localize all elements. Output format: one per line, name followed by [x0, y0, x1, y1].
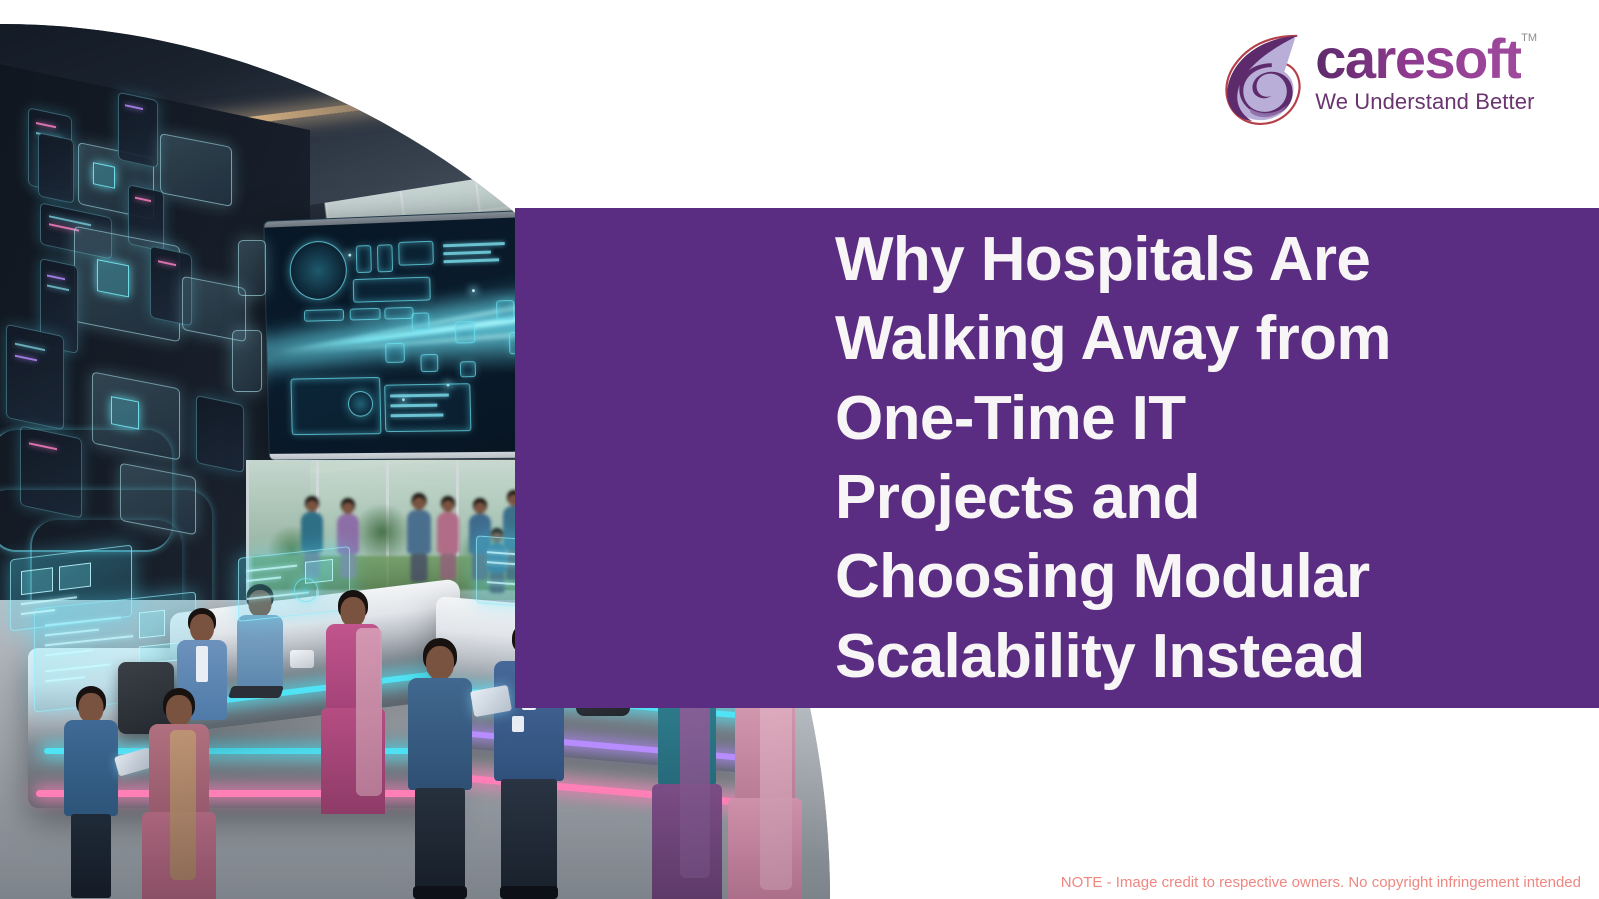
- hud-readout-2: [377, 244, 393, 272]
- node-box-4: [455, 321, 475, 343]
- data-spark-2: [472, 289, 475, 292]
- visitor-sari-center: [320, 592, 386, 814]
- side-monitor-left-lower: [232, 330, 262, 392]
- banner-canvas: Why Hospitals Are Walking Away from One-…: [0, 0, 1599, 899]
- caresoft-logo[interactable]: caresoft TM We Understand Better: [1211, 26, 1537, 126]
- logo-tagline: We Understand Better: [1315, 89, 1537, 115]
- title-line-2: Walking Away from: [835, 299, 1555, 378]
- background-person-3: [406, 495, 432, 581]
- node-box-3: [420, 354, 438, 372]
- wall-panel-12: [6, 324, 64, 430]
- scan-circle-widget: [289, 240, 347, 301]
- nurse-standing-foreground: [404, 640, 476, 899]
- hud-readout-3: [398, 241, 434, 266]
- logo-text-block: caresoft TM We Understand Better: [1315, 26, 1537, 115]
- trademark-symbol: TM: [1521, 32, 1537, 44]
- hud-text-line-1: [443, 242, 505, 247]
- hud-table-widget: [353, 277, 431, 303]
- sari-drape-right-2: [760, 700, 792, 890]
- visitor-sari-front-left: [140, 690, 218, 899]
- title-line-6: Scalability Instead: [835, 617, 1555, 696]
- holo-screen-left-upper: [10, 545, 132, 632]
- image-credit-note: NOTE - Image credit to respective owners…: [1061, 874, 1581, 891]
- node-box-2: [385, 343, 405, 363]
- hud-text-line-3: [444, 258, 500, 263]
- wall-panel-14: [196, 395, 244, 473]
- sari-drape-right-1: [680, 690, 710, 878]
- title-line-1: Why Hospitals Are: [835, 220, 1555, 299]
- title-band: Why Hospitals Are Walking Away from One-…: [515, 208, 1599, 708]
- desk-terminal-left: [290, 650, 314, 668]
- hud-text-line-2: [443, 251, 491, 256]
- desk-keyboard-left: [228, 686, 284, 698]
- background-person-4: [436, 498, 460, 578]
- doctor-shoes: [500, 886, 558, 899]
- title-line-3: One-Time IT: [835, 379, 1555, 458]
- hud-tag-2: [350, 308, 381, 321]
- node-box-5: [460, 361, 476, 377]
- wall-panel-6: [38, 132, 74, 204]
- title-line-4: Projects and: [835, 458, 1555, 537]
- title-line-5: Choosing Modular: [835, 537, 1555, 616]
- sari-drape-center: [356, 628, 382, 796]
- stats-panel-mid: [384, 383, 471, 432]
- holo-orb-center: [294, 578, 318, 602]
- node-box-6: [496, 300, 514, 321]
- doctor-id-badge: [512, 716, 524, 732]
- wall-panel-3: [118, 92, 158, 169]
- logo-wordmark: caresoft: [1315, 32, 1521, 85]
- nurse-shoes: [413, 886, 467, 899]
- hud-readout-1: [356, 245, 372, 273]
- side-monitor-left-upper: [238, 240, 266, 296]
- nurse-standing-front-left: [62, 688, 120, 898]
- hud-tag-3: [384, 307, 413, 320]
- data-spark-1: [348, 254, 351, 257]
- sari-drape-left: [170, 730, 196, 880]
- logo-wordmark-row: caresoft TM: [1315, 32, 1537, 85]
- node-box-1: [412, 312, 430, 330]
- hud-tag-1: [304, 309, 344, 322]
- caresoft-droplet-six-icon: [1211, 26, 1309, 126]
- page-title: Why Hospitals Are Walking Away from One-…: [835, 220, 1555, 696]
